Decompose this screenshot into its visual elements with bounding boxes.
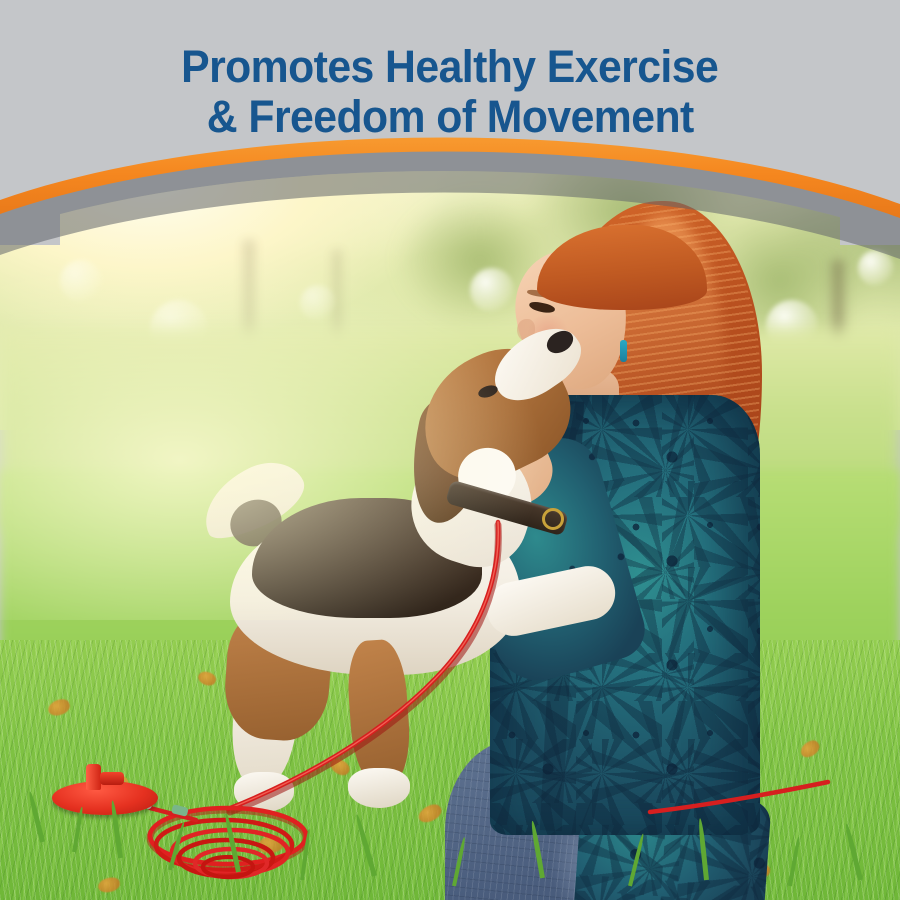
header-background-right-fill (840, 150, 900, 245)
tie-out-stake-post (86, 764, 101, 790)
tie-out-stake-dome (52, 781, 158, 815)
poster-canvas: Promotes Healthy Exercise & Freedom of M… (0, 0, 900, 900)
tie-out-stake-lug (100, 772, 124, 785)
header-background-left-fill (0, 150, 60, 245)
header-background (0, 0, 900, 160)
